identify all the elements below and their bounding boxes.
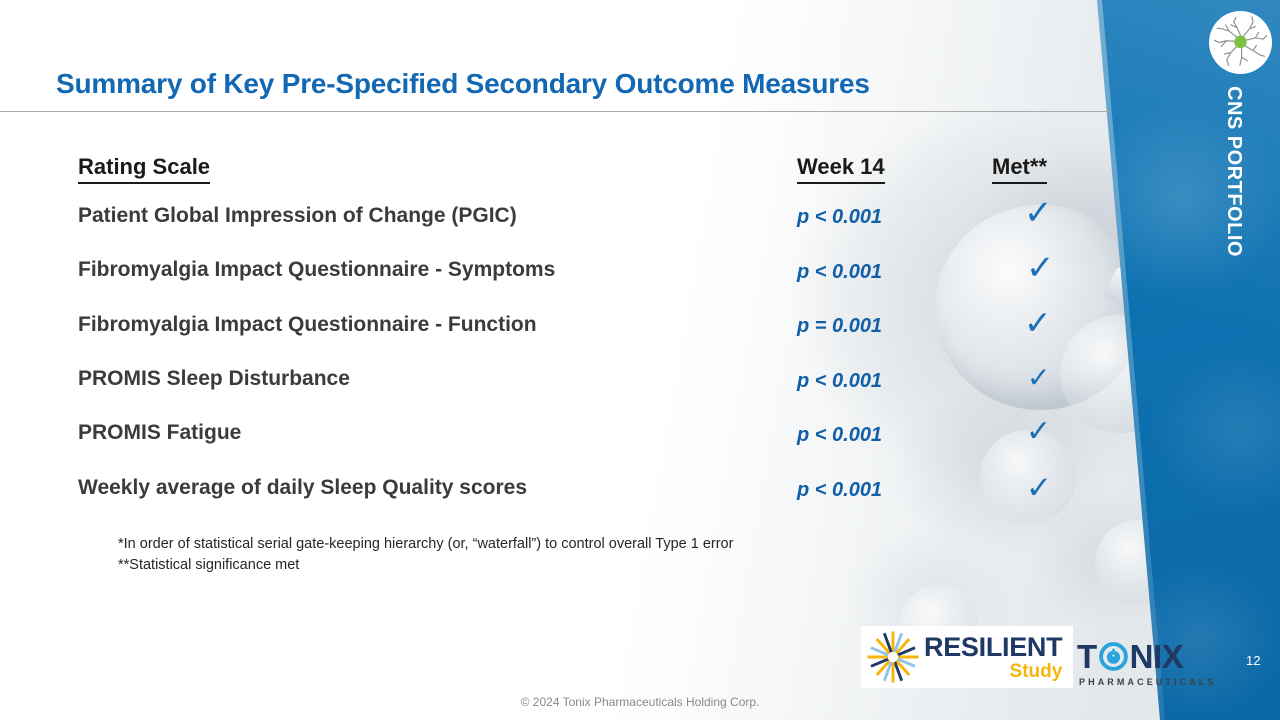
neuron-badge [1209, 11, 1272, 74]
copyright-text: © 2024 Tonix Pharmaceuticals Holding Cor… [0, 695, 1280, 709]
neuron-icon [1212, 14, 1269, 71]
table-row-pvalue: p < 0.001 [797, 261, 882, 284]
footnotes: *In order of statistical serial gate-kee… [118, 534, 948, 576]
check-icon: ✓ [1026, 251, 1055, 285]
table-row-pvalue: p < 0.001 [797, 370, 882, 393]
tonix-letter-t: T [1077, 640, 1097, 673]
sidebar-vertical-label: CNS PORTFOLIO [1222, 86, 1245, 257]
check-icon: ✓ [1026, 417, 1051, 447]
resilient-wordmark: RESILIENT Study [924, 634, 1062, 681]
check-icon: ✓ [1026, 472, 1052, 503]
slide: CNS PORTFOLIO Summary of Key Pre-Specifi… [0, 0, 1280, 720]
table-row-label: PROMIS Fatigue [78, 421, 241, 445]
tonix-logo: T NIX PHARMACEUTICALS [1077, 640, 1225, 692]
tonix-sub-text: PHARMACEUTICALS [1079, 677, 1225, 687]
starburst-icon [863, 628, 923, 686]
outcomes-table: Rating Scale Week 14 Met** Patient Globa… [0, 0, 1120, 720]
table-row-pvalue: p < 0.001 [797, 479, 882, 502]
footnote-line-1: *In order of statistical serial gate-kee… [118, 534, 948, 555]
table-row-label: Fibromyalgia Impact Questionnaire - Symp… [78, 258, 555, 282]
resilient-sub-text: Study [924, 662, 1062, 681]
table-row-label: Weekly average of daily Sleep Quality sc… [78, 476, 527, 500]
column-header-week14: Week 14 [797, 154, 885, 184]
table-row-pvalue: p < 0.001 [797, 424, 882, 447]
table-row-pvalue: p < 0.001 [797, 206, 882, 229]
power-button-icon [1098, 641, 1129, 672]
check-icon: ✓ [1027, 364, 1050, 392]
check-icon: ✓ [1024, 196, 1053, 230]
column-header-rating-scale: Rating Scale [78, 154, 210, 184]
table-row-label: Fibromyalgia Impact Questionnaire - Func… [78, 313, 537, 337]
table-row-label: PROMIS Sleep Disturbance [78, 367, 350, 391]
resilient-main-text: RESILIENT [924, 634, 1062, 661]
tonix-letters-nix: NIX [1130, 640, 1184, 673]
column-header-met: Met** [992, 154, 1047, 184]
resilient-study-logo: RESILIENT Study [861, 626, 1073, 688]
table-row-pvalue: p = 0.001 [797, 315, 882, 338]
tonix-wordmark: T NIX [1077, 640, 1225, 673]
footnote-line-2: **Statistical significance met [118, 555, 948, 576]
check-icon: ✓ [1024, 306, 1052, 339]
page-number: 12 [1246, 653, 1260, 668]
table-row-label: Patient Global Impression of Change (PGI… [78, 204, 517, 228]
